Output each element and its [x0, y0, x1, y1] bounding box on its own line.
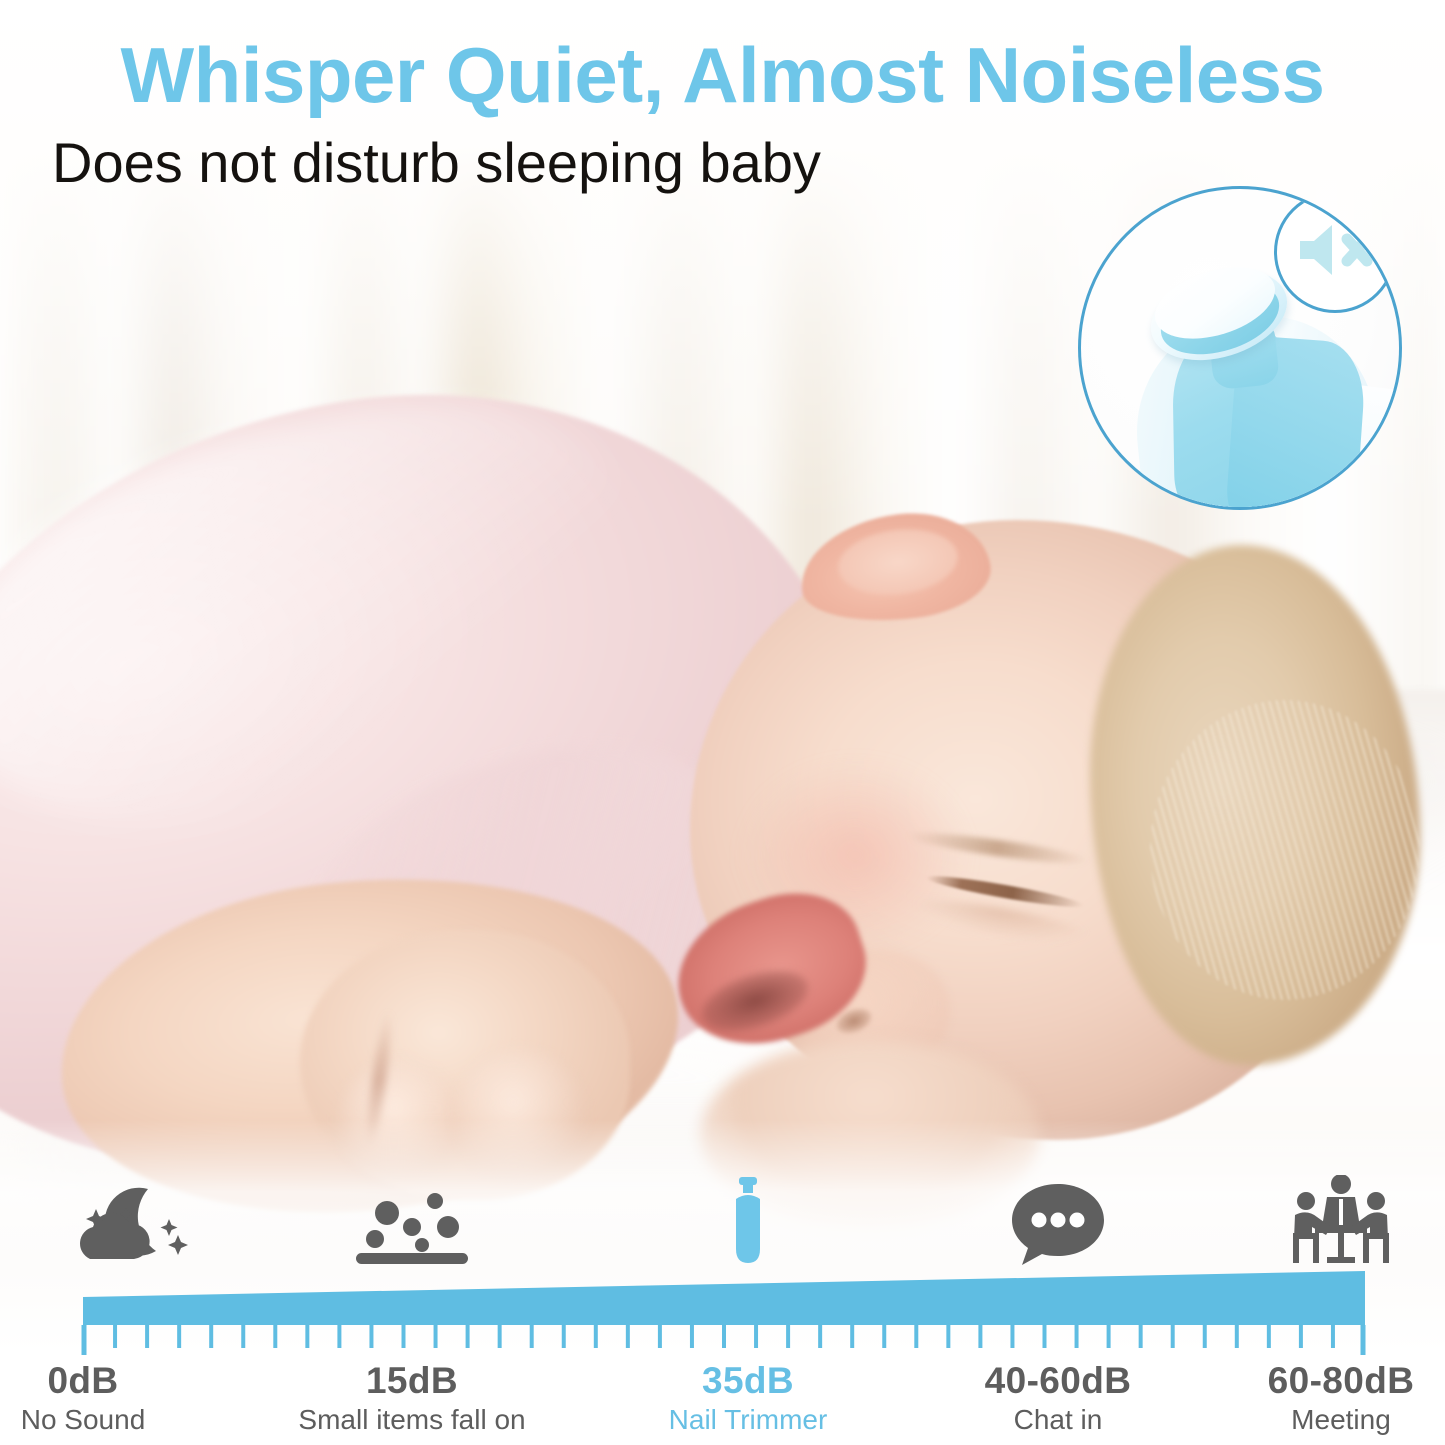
db-value: 35dB: [650, 1360, 846, 1401]
decibel-ruler: [0, 1263, 1445, 1358]
db-desc-line2: the ground: [298, 1439, 525, 1445]
db-value: 15dB: [298, 1360, 525, 1401]
page-title: Whisper Quiet, Almost Noiseless: [0, 30, 1445, 121]
ruler-wedge: [83, 1271, 1365, 1325]
db-value: 40-60dB: [985, 1360, 1132, 1401]
hair-wisps: [1150, 700, 1420, 1000]
speech-bubble-icon: [1008, 1181, 1108, 1267]
moon-cloud-stars-icon: [70, 1183, 190, 1267]
nail-trimmer-icon: [724, 1175, 772, 1267]
scale-label-0db: 0dB No Sound: [21, 1360, 146, 1439]
product-closeup-inset: [1078, 186, 1402, 510]
db-desc-line1: Chat in: [985, 1403, 1132, 1437]
db-desc-line1: Meeting: [1268, 1403, 1415, 1437]
db-desc-line1: Nail Trimmer: [650, 1403, 846, 1437]
db-value: 60-80dB: [1268, 1360, 1415, 1401]
db-value: 0dB: [21, 1360, 146, 1401]
ruler-ticks: [115, 1325, 1333, 1348]
speaker-mute-icon: [1296, 220, 1374, 285]
scale-label-15db: 15dB Small items fall on the ground: [298, 1360, 525, 1445]
scale-icon-row: [0, 1175, 1445, 1270]
scale-label-60-80db: 60-80dB Meeting Discussion: [1268, 1360, 1415, 1445]
scale-label-40-60db: 40-60dB Chat in a low voice: [985, 1360, 1132, 1445]
mute-badge: [1274, 191, 1396, 313]
product-infographic: Whisper Quiet, Almost Noiseless Does not…: [0, 0, 1445, 1445]
db-desc-line2: a low voice: [985, 1439, 1132, 1445]
db-desc-line2: Discussion: [1268, 1439, 1415, 1445]
db-desc-line2: Operting Sound: [650, 1439, 846, 1445]
scale-label-row: 0dB No Sound 15dB Small items fall on th…: [0, 1360, 1445, 1445]
falling-items-icon: [350, 1185, 474, 1267]
scale-label-35db: 35dB Nail Trimmer Operting Sound: [650, 1360, 846, 1445]
decibel-scale: 0dB No Sound 15dB Small items fall on th…: [0, 1175, 1445, 1445]
meeting-people-icon: [1289, 1175, 1393, 1267]
page-subtitle: Does not disturb sleeping baby: [52, 130, 821, 195]
db-desc-line1: Small items fall on: [298, 1403, 525, 1437]
db-desc-line1: No Sound: [21, 1403, 146, 1437]
